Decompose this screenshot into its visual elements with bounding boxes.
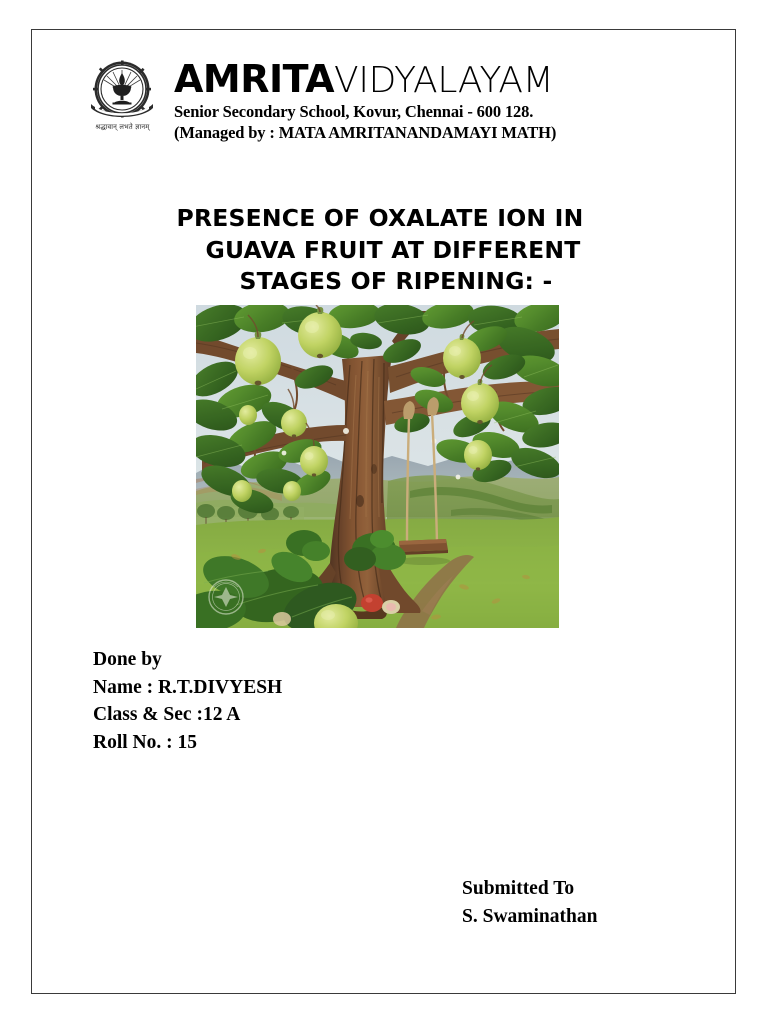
guava-tree-photo [196, 305, 559, 628]
guava-tree-illustration [196, 305, 559, 628]
letterhead-text-block: AMRITAVIDYALAYAM Senior Secondary School… [168, 58, 656, 143]
amrita-crest-seal-icon [83, 60, 161, 122]
project-title: PRESENCE OF OXALATE ION IN GUAVA FRUIT A… [120, 203, 640, 298]
school-address: Senior Secondary School, Kovur, Chennai … [174, 101, 656, 122]
project-title-line-3: STAGES OF RIPENING: - [120, 266, 640, 298]
school-letterhead: श्रद्धावान् लभते ज्ञानम् AMRITAVIDYALAYA… [76, 58, 656, 143]
submitted-to-teacher: S. Swaminathan [462, 903, 597, 931]
wordmark-amrita: AMRITA [174, 57, 334, 101]
school-crest: श्रद्धावान् लभते ज्ञानम् [76, 58, 168, 132]
author-class: Class & Sec :12 A [93, 701, 282, 729]
crest-motto-sanskrit: श्रद्धावान् लभते ज्ञानम् [95, 123, 149, 132]
project-title-line-1: PRESENCE OF OXALATE ION IN [120, 203, 640, 235]
project-title-line-2: GUAVA FRUIT AT DIFFERENT [120, 235, 640, 267]
submitted-to-label: Submitted To [462, 875, 597, 903]
done-by-label: Done by [93, 646, 282, 674]
school-managed-by: (Managed by : MATA AMRITANANDAMAYI MATH) [174, 122, 656, 143]
school-wordmark: AMRITAVIDYALAYAM [174, 61, 656, 98]
submitted-to-details: Submitted To S. Swaminathan [462, 875, 597, 930]
author-name: Name : R.T.DIVYESH [93, 674, 282, 702]
author-roll-no: Roll No. : 15 [93, 729, 282, 757]
wordmark-vidyalayam: VIDYALAYAM [334, 60, 553, 101]
author-details: Done by Name : R.T.DIVYESH Class & Sec :… [93, 646, 282, 757]
